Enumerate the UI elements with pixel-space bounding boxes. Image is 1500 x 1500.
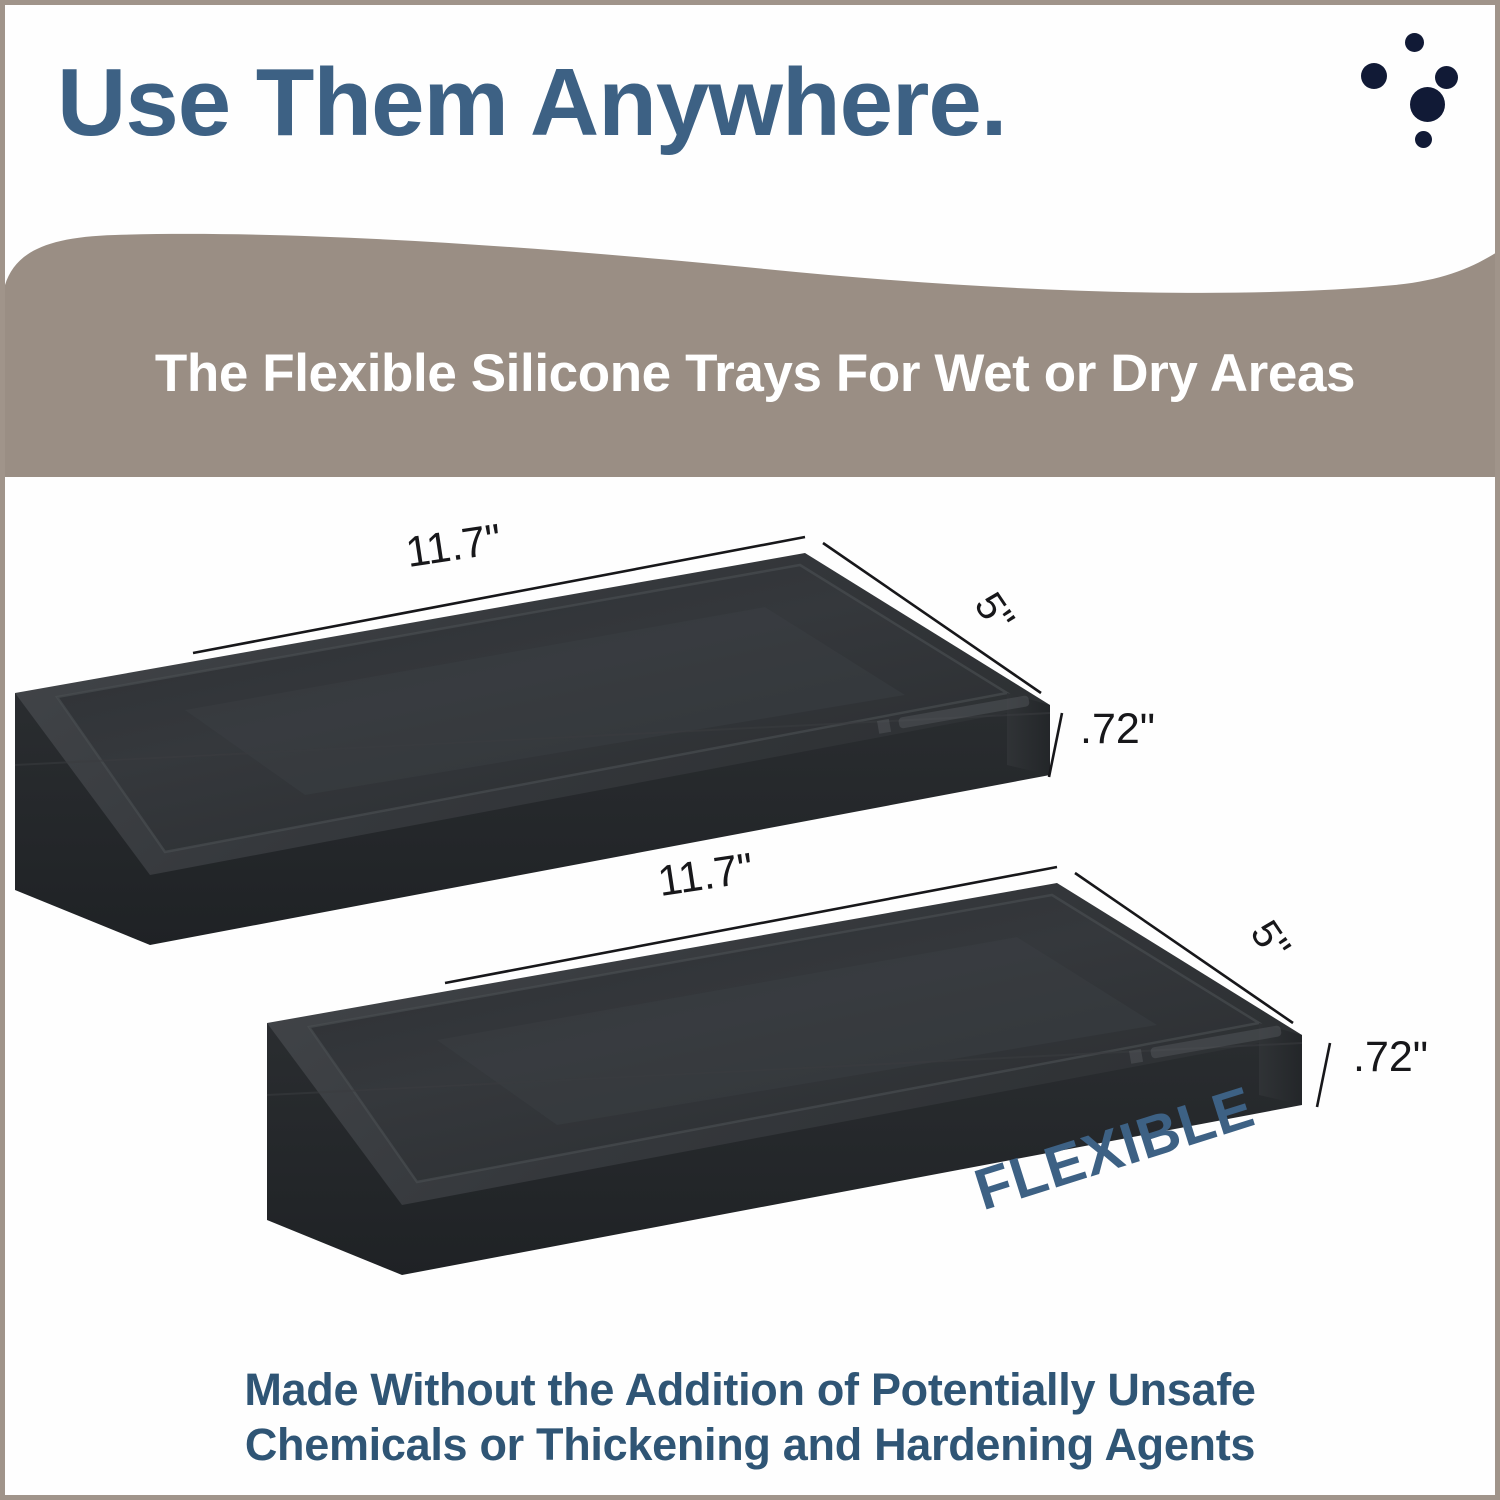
banner-subtitle: The Flexible Silicone Trays For Wet or D… (5, 343, 1495, 404)
tray-bottom-shape (267, 883, 1302, 1275)
product-illustration (5, 475, 1495, 1355)
page-title: Use Them Anywhere. (57, 53, 1006, 154)
footer-caption-line-1: Made Without the Addition of Potentially… (5, 1363, 1495, 1418)
footer-caption: Made Without the Addition of Potentially… (5, 1363, 1495, 1473)
dimension-label-height-top: .72" (1080, 705, 1155, 754)
footer-caption-line-2: Chemicals or Thickening and Hardening Ag… (5, 1418, 1495, 1473)
infographic-page: Use Them Anywhere. The Flexible Silicone… (0, 0, 1500, 1500)
dot-bottom-icon (1415, 131, 1432, 148)
dot-center-large-icon (1410, 87, 1445, 122)
infographic-canvas: Use Them Anywhere. The Flexible Silicone… (5, 5, 1495, 1495)
dimension-label-height-bottom: .72" (1353, 1033, 1428, 1082)
subtitle-banner: The Flexible Silicone Trays For Wet or D… (5, 215, 1495, 477)
decorative-dots-cluster (1357, 27, 1495, 187)
dimension-tick-height-bottom (1317, 1043, 1330, 1107)
tray-top-shape (15, 553, 1050, 945)
dimension-tick-height-top (1049, 713, 1062, 777)
dot-top-icon (1405, 33, 1424, 52)
dot-right-icon (1435, 66, 1458, 89)
dot-left-icon (1361, 63, 1387, 89)
